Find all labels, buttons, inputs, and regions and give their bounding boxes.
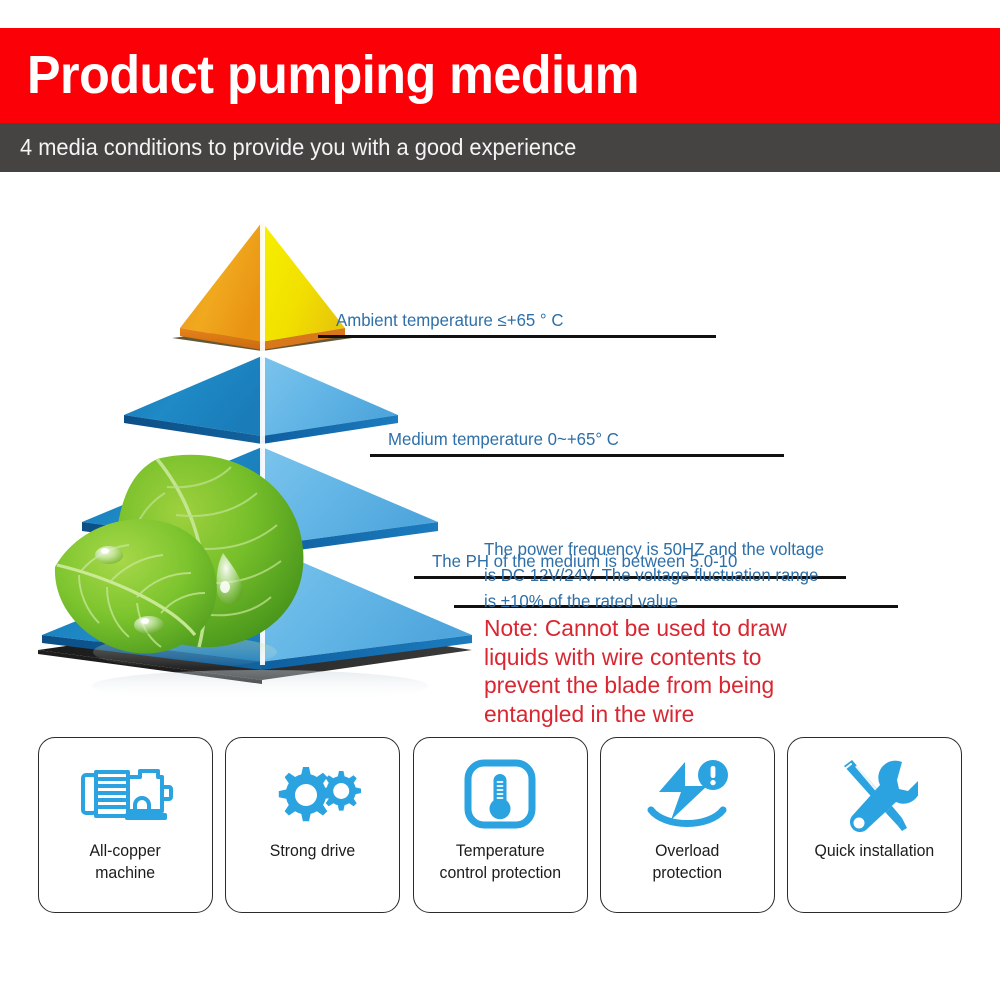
callout-label-1: Ambient temperature ≤+65 ° C xyxy=(336,308,563,333)
feature-card-label: Quick installation xyxy=(808,840,941,862)
electric-motor-icon xyxy=(78,752,174,840)
header-gray-band: 4 media conditions to provide you with a… xyxy=(0,123,1000,172)
callout-label-4-line1: The power frequency is 50HZ and the volt… xyxy=(484,536,824,562)
callout-label-4-line2: is DC 12V/24V. The voltage fluctuation r… xyxy=(484,562,818,588)
thermometer-icon xyxy=(460,752,540,840)
green-leaves-illustration xyxy=(45,445,345,675)
callout-line-2 xyxy=(370,454,784,457)
water-droplet xyxy=(134,616,164,634)
callout-line-1 xyxy=(318,335,716,338)
feature-card-row: All-copper machine Strong drive xyxy=(38,737,962,913)
page-subtitle: 4 media conditions to provide you with a… xyxy=(20,123,576,172)
callout-label-2: Medium temperature 0~+65° C xyxy=(388,427,619,452)
gears-icon xyxy=(265,752,361,840)
warning-note-line2: liquids with wire contents to xyxy=(484,643,891,672)
feature-card-label: All-copper machine xyxy=(83,840,168,884)
warning-note-line3: prevent the blade from being xyxy=(484,671,891,700)
overload-lightning-icon xyxy=(641,752,733,840)
warning-note-line1: Note: Cannot be used to draw xyxy=(484,614,891,643)
feature-card-label: Strong drive xyxy=(263,840,362,862)
feature-card-label: Overload protection xyxy=(646,840,729,884)
feature-card-quick-installation[interactable]: Quick installation xyxy=(787,737,962,913)
leaf-small xyxy=(55,519,217,653)
wrench-screwdriver-icon xyxy=(832,752,918,840)
feature-card-strong-drive[interactable]: Strong drive xyxy=(225,737,400,913)
water-droplet xyxy=(95,546,123,564)
callout-label-4-line3: is ±10% of the rated value xyxy=(484,588,678,614)
page-title: Product pumping medium xyxy=(27,36,639,114)
feature-card-all-copper-machine[interactable]: All-copper machine xyxy=(38,737,213,913)
feature-card-temperature-control-protection[interactable]: Temperature control protection xyxy=(413,737,588,913)
feature-card-overload-protection[interactable]: Overload protection xyxy=(600,737,775,913)
feature-card-label: Temperature control protection xyxy=(433,840,568,884)
warning-note-line4: entangled in the wire xyxy=(484,700,891,729)
warning-note: Note: Cannot be used to draw liquids wit… xyxy=(484,614,891,728)
header-red-band: Product pumping medium xyxy=(0,28,1000,123)
infographic-page: Product pumping medium 4 media condition… xyxy=(0,0,1000,1000)
